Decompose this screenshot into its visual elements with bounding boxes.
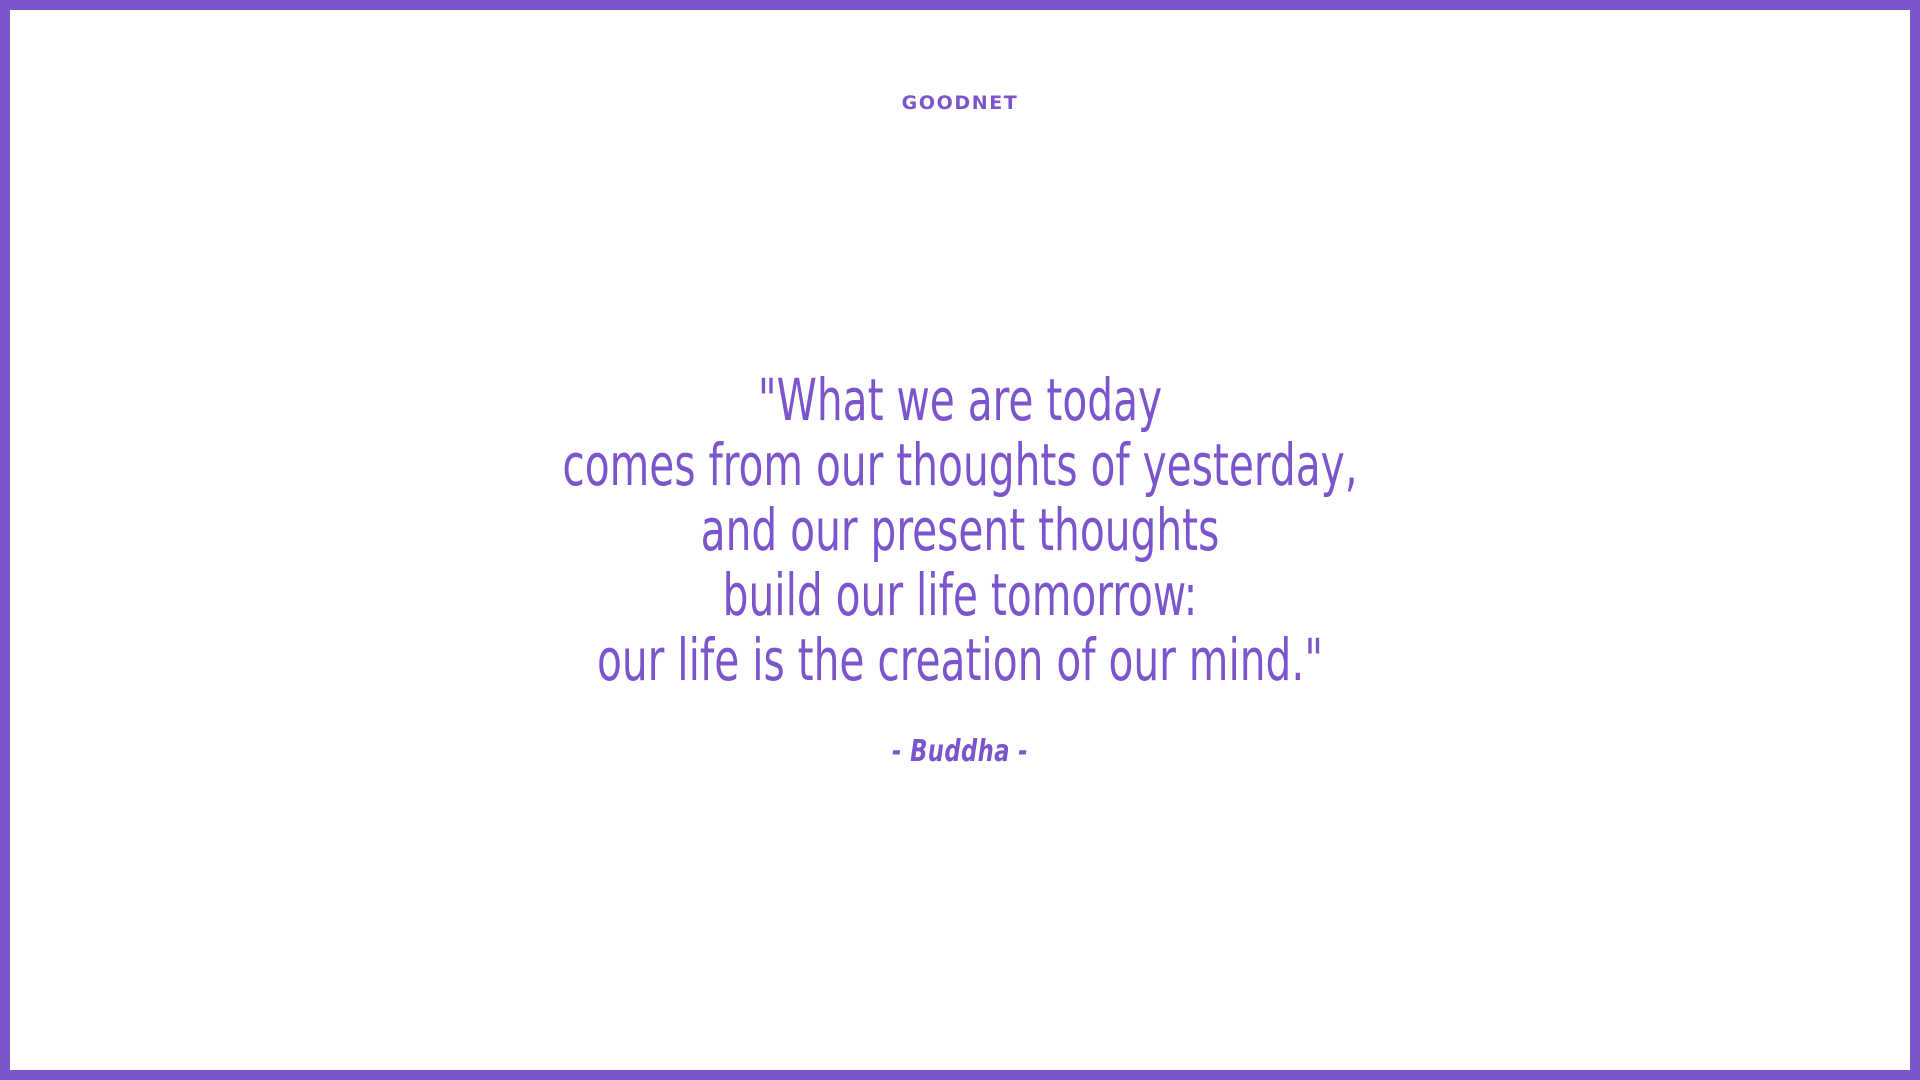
quote-line: comes from our thoughts of yesterday, bbox=[414, 433, 1506, 498]
quote-text: "What we are today comes from our though… bbox=[260, 368, 1660, 693]
quote-card: GOODNET "What we are today comes from ou… bbox=[0, 0, 1920, 1080]
quote-line: and our present thoughts bbox=[414, 498, 1506, 563]
quote-line: build our life tomorrow: bbox=[414, 563, 1506, 628]
quote-block: "What we are today comes from our though… bbox=[260, 368, 1660, 767]
quote-line: "What we are today bbox=[414, 368, 1506, 433]
brand-logo: GOODNET bbox=[10, 94, 1910, 113]
quote-line: our life is the creation of our mind." bbox=[414, 628, 1506, 693]
quote-attribution: - Buddha - bbox=[260, 737, 1660, 767]
quote-attribution-label: - Buddha - bbox=[892, 737, 1028, 767]
